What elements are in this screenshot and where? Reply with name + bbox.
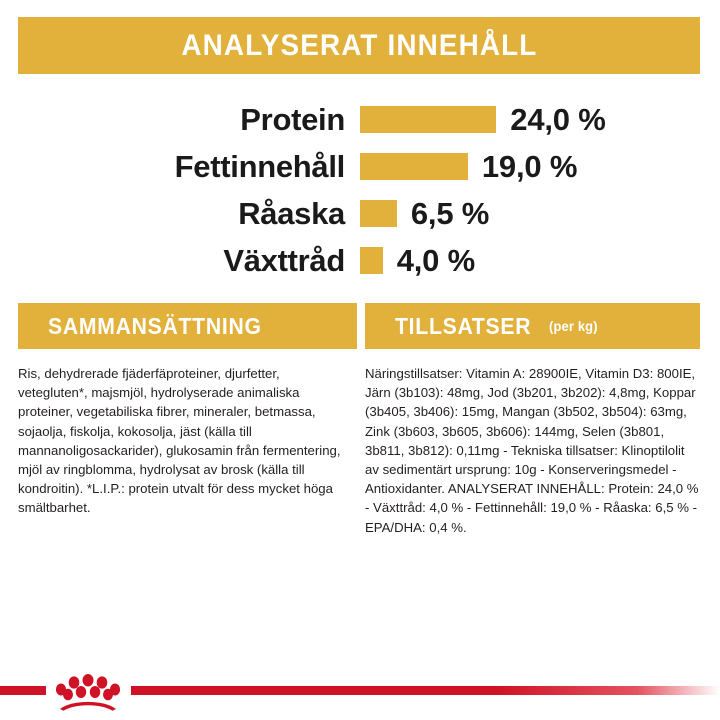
bar-value: 4,0 % [397, 243, 475, 279]
composition-column: Ris, dehydrerade fjäderfäproteiner, djur… [18, 364, 348, 518]
footer-rule-right [131, 686, 720, 695]
composition-heading-label: SAMMANSÄTTNING [48, 313, 262, 340]
bar-label: Fettinnehåll [0, 149, 345, 185]
brand-footer [0, 672, 720, 720]
bar-row: Fettinnehåll19,0 % [0, 143, 720, 190]
composition-body-text: Ris, dehydrerade fjäderfäproteiner, djur… [18, 364, 348, 518]
bar-label: Råaska [0, 196, 345, 232]
royal-canin-crown-icon [52, 672, 124, 712]
bar-value: 6,5 % [411, 196, 489, 232]
analysed-content-banner: ANALYSERAT INNEHÅLL [18, 17, 700, 74]
bar-value: 19,0 % [482, 149, 577, 185]
bar-fill [360, 106, 496, 133]
additives-heading-sublabel: (per kg) [549, 318, 598, 334]
additives-body-text: Näringstillsatser: Vitamin A: 28900IE, V… [365, 364, 701, 537]
bar-fill [360, 153, 468, 180]
section-headers: SAMMANSÄTTNING TILLSATSER (per kg) [0, 303, 720, 349]
additives-heading-banner: TILLSATSER (per kg) [365, 303, 700, 349]
bar-label: Växttråd [0, 243, 345, 279]
bar-row: Växttråd4,0 % [0, 237, 720, 284]
additives-column: Näringstillsatser: Vitamin A: 28900IE, V… [365, 364, 701, 537]
bar-row: Råaska6,5 % [0, 190, 720, 237]
additives-heading-label: TILLSATSER [395, 313, 531, 340]
bar-track: 19,0 % [360, 149, 577, 185]
nutrition-panel: ANALYSERAT INNEHÅLL Protein24,0 %Fettinn… [0, 0, 720, 720]
nutrition-bar-chart: Protein24,0 %Fettinnehåll19,0 %Råaska6,5… [0, 96, 720, 284]
bar-row: Protein24,0 % [0, 96, 720, 143]
bar-label: Protein [0, 102, 345, 138]
page-title: ANALYSERAT INNEHÅLL [181, 29, 537, 63]
bar-fill [360, 200, 397, 227]
bar-track: 4,0 % [360, 243, 475, 279]
bar-track: 24,0 % [360, 102, 606, 138]
bar-fill [360, 247, 383, 274]
footer-rule-left [0, 686, 46, 695]
bar-track: 6,5 % [360, 196, 489, 232]
composition-heading-banner: SAMMANSÄTTNING [18, 303, 357, 349]
bar-value: 24,0 % [510, 102, 605, 138]
